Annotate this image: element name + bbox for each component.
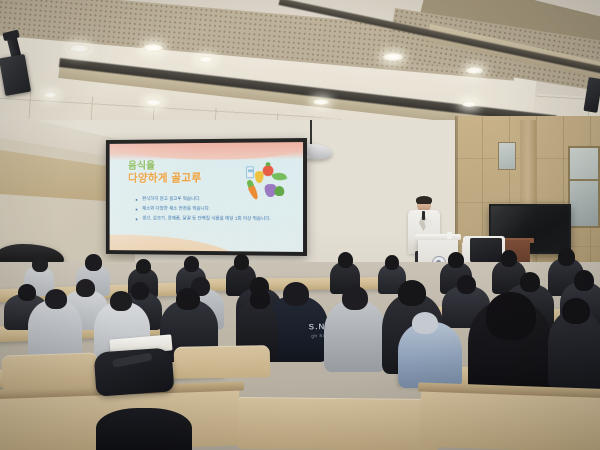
ceiling-downlight	[462, 101, 477, 107]
ceiling-downlight	[43, 92, 57, 98]
audience-head	[76, 279, 95, 297]
audience-person	[28, 300, 82, 360]
audience-head	[131, 282, 149, 300]
audience-head	[574, 270, 594, 291]
backpack-strap	[112, 352, 153, 367]
audience-head	[250, 289, 270, 309]
audience-head	[32, 256, 48, 272]
audience-head	[45, 289, 67, 309]
presenter-hair	[416, 196, 432, 204]
audience-head	[110, 291, 132, 311]
audience-head	[184, 256, 199, 272]
audience-head	[501, 250, 517, 267]
audience-head	[385, 255, 399, 270]
bench-row-foreground	[238, 397, 439, 450]
cup	[447, 232, 452, 239]
window-right	[568, 146, 600, 228]
audience-head	[342, 286, 368, 310]
ceiling-downlight	[198, 56, 214, 63]
audience-head	[176, 288, 200, 310]
audience-person	[324, 300, 386, 372]
audience-head	[398, 280, 426, 306]
audience-head	[85, 254, 102, 271]
backpack	[94, 347, 175, 396]
ceiling-downlight	[143, 44, 163, 52]
window-small	[498, 142, 516, 170]
audience-head	[562, 298, 590, 324]
audience-head	[283, 282, 309, 306]
ceiling-downlight	[466, 67, 483, 74]
audience-head	[136, 259, 151, 274]
confidence-monitor	[470, 238, 502, 262]
screen-glare	[110, 142, 303, 252]
photo-scene: 음식을 다양하게 골고루 편식하지 않고 골고루 먹습니다. 채소와 다양한 채…	[0, 0, 600, 450]
audience-head	[558, 248, 575, 266]
projection-screen-surface: 음식을 다양하게 골고루 편식하지 않고 골고루 먹습니다. 채소와 다양한 채…	[110, 142, 303, 252]
audience-person	[96, 408, 192, 450]
ceiling-downlight	[68, 44, 90, 53]
bench-row-foreground	[419, 389, 600, 450]
microphone-icon	[422, 211, 425, 220]
audience-head	[486, 292, 536, 340]
ceiling-downlight	[145, 99, 162, 106]
audience-head	[520, 272, 540, 292]
bench-seat-back	[1, 352, 98, 389]
ceiling-downlight	[313, 99, 329, 105]
audience-head	[338, 252, 353, 268]
bench-seat-back	[174, 345, 271, 379]
audience-head	[457, 275, 476, 294]
podium-top	[415, 234, 461, 240]
audience-head	[448, 252, 464, 268]
audience-head	[18, 284, 36, 301]
audience-head	[234, 254, 249, 270]
projection-screen: 음식을 다양하게 골고루 편식하지 않고 골고루 먹습니다. 채소와 다양한 채…	[106, 138, 307, 256]
audience-head	[412, 312, 438, 334]
ceiling-downlight	[383, 53, 403, 61]
